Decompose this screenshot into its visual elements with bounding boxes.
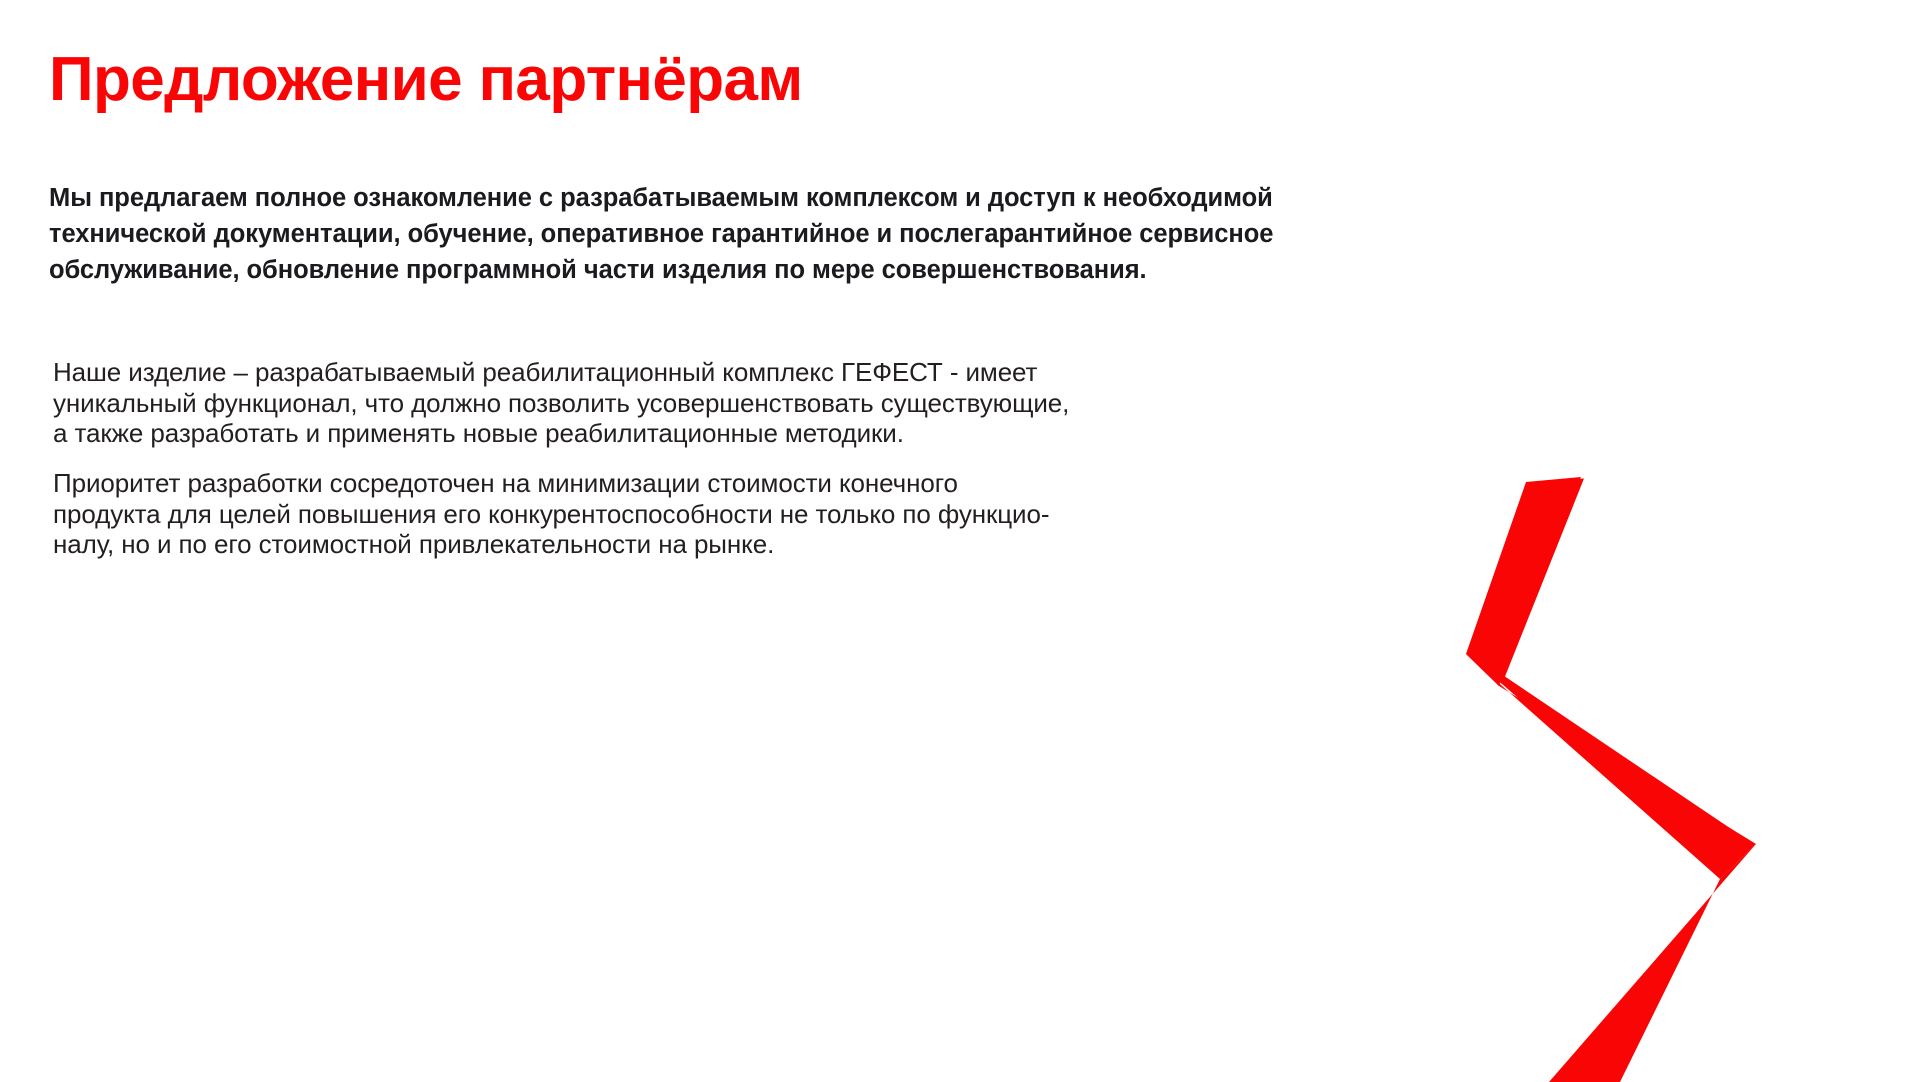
body-paragraph-line: уникальный функционал, что должно позвол… xyxy=(53,388,1113,419)
lead-paragraph: Мы предлагаем полное ознакомление с разр… xyxy=(49,180,1189,288)
body-paragraph-priority: Приоритет разработки сосредоточен на мин… xyxy=(53,468,1113,560)
page-title: Предложение партнёрам xyxy=(49,47,803,112)
red-zigzag-chevron-icon xyxy=(1442,0,1922,1082)
body-paragraph-line: налу, но и по его стоимостной привлекате… xyxy=(53,529,1113,560)
body-paragraph-line: продукта для целей повышения его конкуре… xyxy=(53,499,1113,530)
body-paragraph-product: Наше изделие – разрабатываемый реабилита… xyxy=(53,357,1113,449)
lead-paragraph-line: Мы предлагаем полное ознакомление с разр… xyxy=(49,180,1189,216)
body-paragraph-line: а также разработать и применять новые ре… xyxy=(53,418,1113,449)
lead-paragraph-line: обслуживание, обновление программной час… xyxy=(49,252,1189,288)
lead-paragraph-line: технической документации, обучение, опер… xyxy=(49,216,1189,252)
body-paragraph-line: Приоритет разработки сосредоточен на мин… xyxy=(53,468,1113,499)
slide-canvas: Предложение партнёрам Мы предлагаем полн… xyxy=(0,0,1922,1082)
body-paragraph-line: Наше изделие – разрабатываемый реабилита… xyxy=(53,357,1113,388)
